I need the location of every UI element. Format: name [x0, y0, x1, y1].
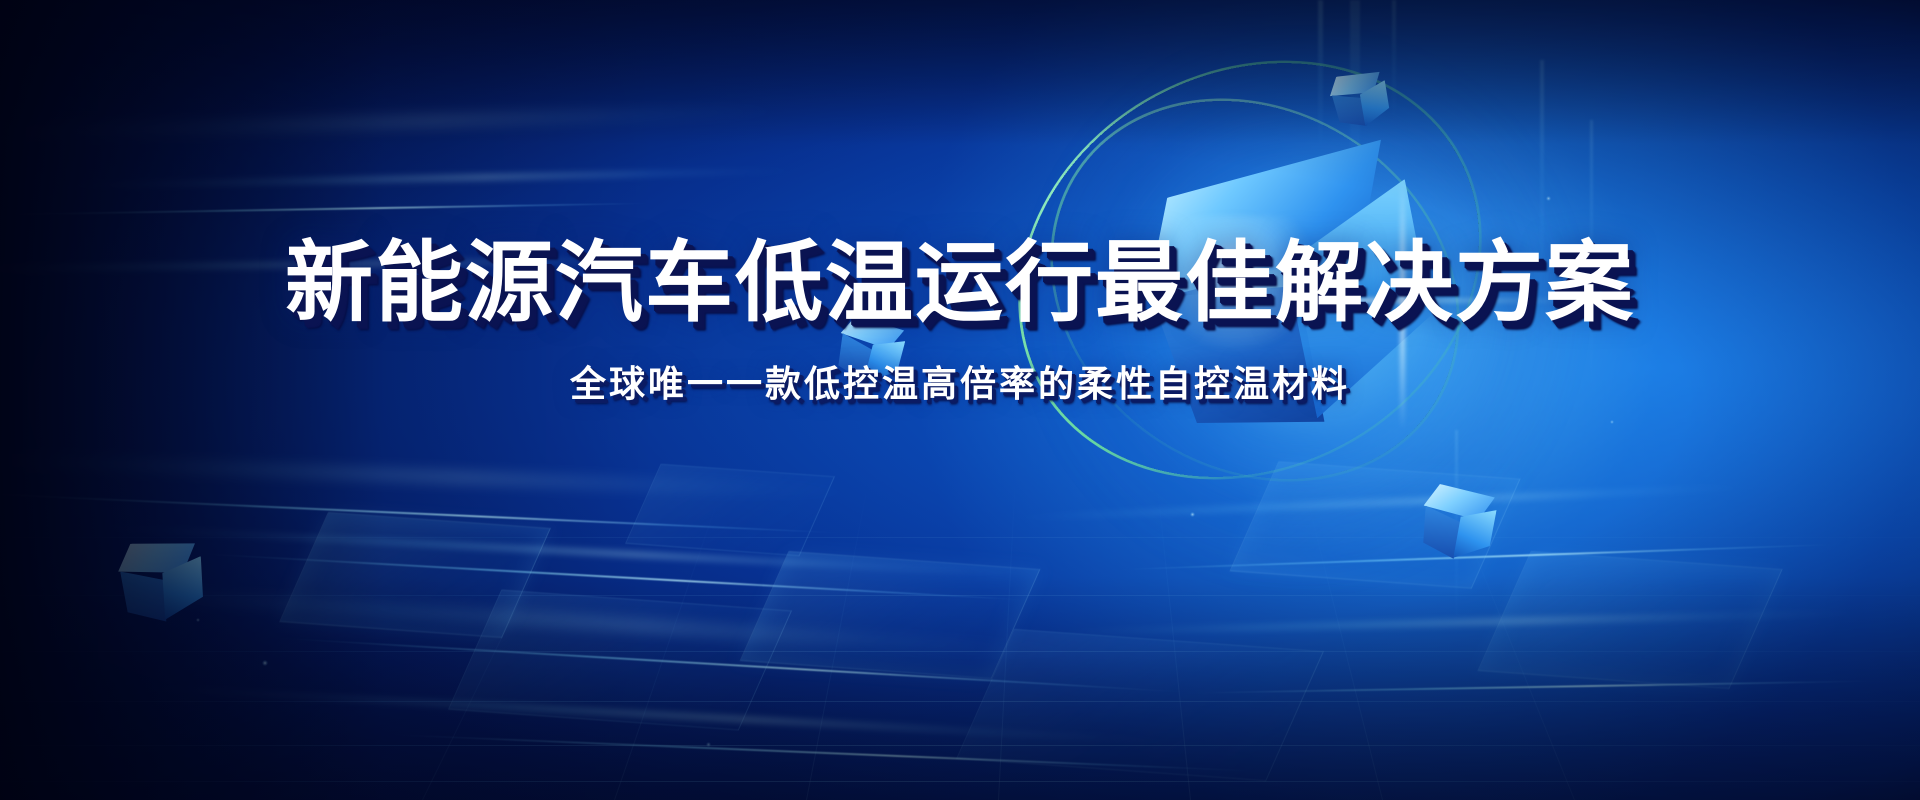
grid-line-horizontal	[0, 537, 1920, 538]
grid-line-horizontal	[0, 745, 1920, 746]
decorative-plate	[625, 464, 835, 557]
sparkle-dot	[1190, 512, 1195, 517]
floating-cube	[115, 535, 206, 629]
light-streak	[0, 106, 806, 140]
page-subtitle: 全球唯一一款低控温高倍率的柔性自控温材料	[0, 355, 1920, 407]
floating-cube	[1418, 483, 1495, 564]
sparkle-dot	[1610, 420, 1614, 424]
sparkle-dot	[262, 660, 268, 666]
light-streak	[0, 202, 653, 215]
page-title: 新能源汽车低温运行最佳解决方案	[0, 236, 1920, 329]
banner-text-block: 新能源汽车低温运行最佳解决方案 全球唯一一款低控温高倍率的柔性自控温材料	[0, 236, 1920, 407]
grid-line-horizontal	[0, 781, 1920, 782]
decorative-plate	[956, 629, 1324, 781]
sparkle-dot	[1546, 196, 1551, 201]
sparkle-dot	[706, 742, 711, 747]
light-streak	[38, 168, 806, 189]
hero-banner: 新能源汽车低温运行最佳解决方案 全球唯一一款低控温高倍率的柔性自控温材料	[0, 0, 1920, 800]
grid-line-horizontal	[0, 701, 1920, 702]
sparkle-dot	[196, 618, 200, 622]
